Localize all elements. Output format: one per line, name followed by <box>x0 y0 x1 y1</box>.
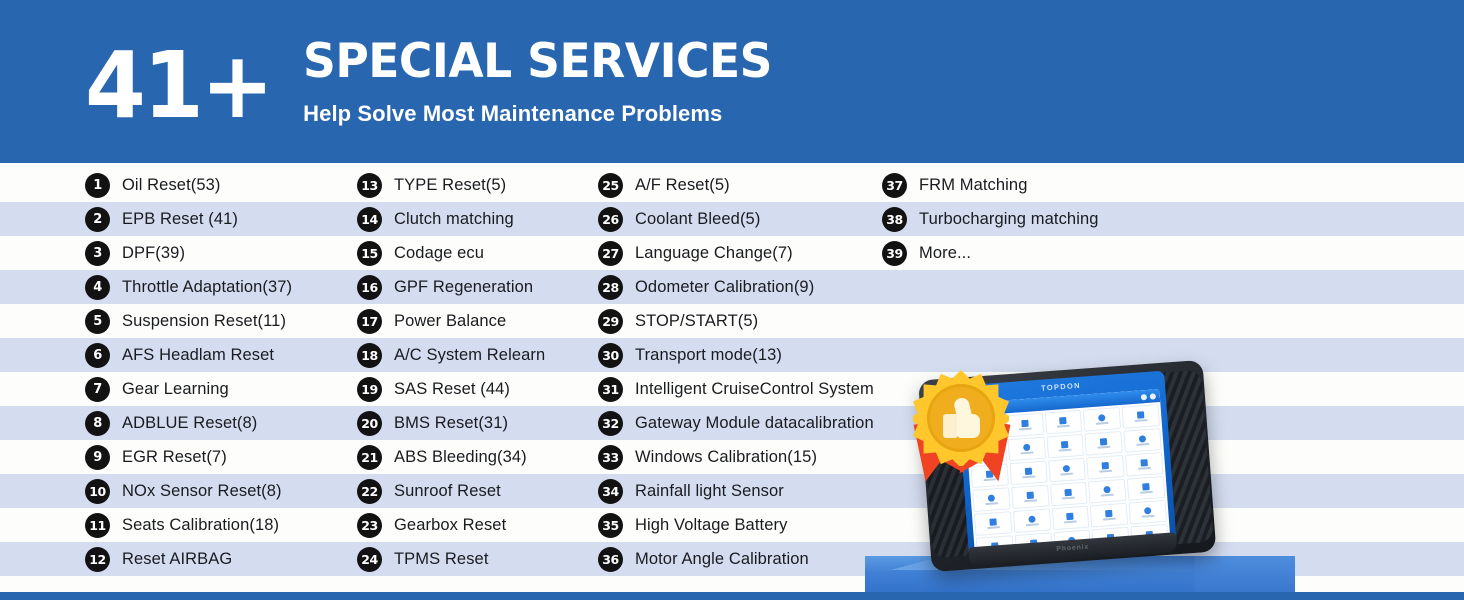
app-tile-caption <box>1026 523 1039 526</box>
list-item-number-badge: 14 <box>357 207 382 232</box>
list-item-label: EPB Reset (41) <box>122 210 238 229</box>
list-item-number-badge: 33 <box>598 445 623 470</box>
app-tile-caption <box>1024 499 1037 502</box>
app-tile <box>1127 476 1165 501</box>
app-tile-caption <box>985 502 998 505</box>
app-tile <box>1044 410 1082 435</box>
list-item-label: Suspension Reset(11) <box>122 312 286 331</box>
award-badge <box>905 368 1017 486</box>
app-tile-icon <box>1139 435 1146 442</box>
special-services-banner: 41+ SPECIAL SERVICES Help Solve Most Mai… <box>0 0 1464 600</box>
list-item-label: Odometer Calibration(9) <box>635 278 814 297</box>
app-tile <box>1083 407 1121 432</box>
thumb-palm <box>943 414 958 438</box>
app-tile-caption <box>1101 494 1114 497</box>
service-list-item[interactable]: 23Gearbox Reset <box>357 508 506 542</box>
list-item-number-badge: 10 <box>85 479 110 504</box>
app-tile-caption <box>1098 446 1111 449</box>
user-icon <box>1150 393 1156 399</box>
list-item-number-badge: 20 <box>357 411 382 436</box>
service-list-item[interactable]: 15Codage ecu <box>357 236 484 270</box>
app-tile <box>1087 455 1125 480</box>
thumbs-up-icon <box>943 398 981 438</box>
list-item-label: DPF(39) <box>122 244 185 263</box>
app-tile <box>1122 404 1160 429</box>
service-list-item[interactable]: 33Windows Calibration(15) <box>598 440 817 474</box>
list-item-number-badge: 27 <box>598 241 623 266</box>
list-item-label: Throttle Adaptation(37) <box>122 278 292 297</box>
service-list-item[interactable]: 6AFS Headlam Reset <box>85 338 274 372</box>
service-list-item[interactable]: 21ABS Bleeding(34) <box>357 440 527 474</box>
list-item-number-badge: 18 <box>357 343 382 368</box>
app-tile-caption <box>1103 518 1116 521</box>
list-item-number-badge: 23 <box>357 513 382 538</box>
settings-icon <box>1141 394 1147 400</box>
app-tile <box>1013 508 1051 533</box>
list-item-number-badge: 13 <box>357 173 382 198</box>
list-item-number-badge: 5 <box>85 309 110 334</box>
service-list-item[interactable]: 18A/C System Relearn <box>357 338 545 372</box>
service-list-item[interactable]: 26Coolant Bleed(5) <box>598 202 760 236</box>
list-item-number-badge: 31 <box>598 377 623 402</box>
list-item-number-badge: 38 <box>882 207 907 232</box>
list-item-label: TPMS Reset <box>394 550 489 569</box>
list-item-number-badge: 28 <box>598 275 623 300</box>
service-list-item[interactable]: 22Sunroof Reset <box>357 474 501 508</box>
app-tile-icon <box>1023 444 1030 451</box>
app-tile <box>1129 500 1167 525</box>
service-list-item[interactable]: 10NOx Sensor Reset(8) <box>85 474 282 508</box>
service-list-item[interactable]: 31Intelligent CruiseControl System <box>598 372 874 406</box>
service-list-item[interactable]: 13TYPE Reset(5) <box>357 168 506 202</box>
app-tile-caption <box>1138 467 1151 470</box>
service-list-item[interactable]: 37FRM Matching <box>882 168 1027 202</box>
app-tile-icon <box>1100 438 1107 445</box>
list-item-number-badge: 15 <box>357 241 382 266</box>
app-tile-caption <box>1099 470 1112 473</box>
app-tile-icon <box>1067 513 1074 520</box>
app-tile-caption <box>1059 449 1072 452</box>
service-list-item[interactable]: 30Transport mode(13) <box>598 338 782 372</box>
app-tile-caption <box>1062 496 1075 499</box>
list-item-label: Windows Calibration(15) <box>635 448 817 467</box>
service-list-item[interactable]: 32Gateway Module datacalibration <box>598 406 874 440</box>
list-item-label: Sunroof Reset <box>394 482 501 501</box>
banner-header: 41+ SPECIAL SERVICES Help Solve Most Mai… <box>0 0 1464 163</box>
app-tile-icon <box>1142 483 1149 490</box>
list-item-number-badge: 35 <box>598 513 623 538</box>
service-list-item[interactable]: 17Power Balance <box>357 304 506 338</box>
list-item-label: Gear Learning <box>122 380 229 399</box>
list-item-label: Rainfall light Sensor <box>635 482 784 501</box>
list-item-number-badge: 12 <box>85 547 110 572</box>
app-tile <box>1046 434 1084 459</box>
list-item-number-badge: 19 <box>357 377 382 402</box>
app-tile-caption <box>1057 425 1070 428</box>
app-tile-icon <box>1144 507 1151 514</box>
app-tile-icon <box>1021 420 1028 427</box>
app-tile-caption <box>1136 443 1149 446</box>
app-tile <box>974 511 1012 536</box>
header-text-block: SPECIAL SERVICES Help Solve Most Mainten… <box>303 28 787 127</box>
list-item-label: A/C System Relearn <box>394 346 545 365</box>
list-item-label: Power Balance <box>394 312 506 331</box>
app-tile <box>1051 506 1089 531</box>
service-list-item[interactable]: 5Suspension Reset(11) <box>85 304 286 338</box>
app-tile-icon <box>1098 414 1105 421</box>
list-item-label: Reset AIRBAG <box>122 550 232 569</box>
app-tile-icon <box>1060 417 1067 424</box>
service-list-item[interactable]: 12Reset AIRBAG <box>85 542 232 576</box>
list-item-label: Gearbox Reset <box>394 516 506 535</box>
list-item-label: Gateway Module datacalibration <box>635 414 874 433</box>
app-tile-icon <box>1137 411 1144 418</box>
list-item-number-badge: 26 <box>598 207 623 232</box>
app-tile-icon <box>1024 468 1031 475</box>
list-item-label: ABS Bleeding(34) <box>394 448 527 467</box>
service-list-item[interactable]: 39More... <box>882 236 971 270</box>
app-tile-icon <box>1104 486 1111 493</box>
service-list-item[interactable]: 28Odometer Calibration(9) <box>598 270 814 304</box>
list-item-label: SAS Reset (44) <box>394 380 510 399</box>
app-tile-caption <box>1135 419 1148 422</box>
list-item-number-badge: 4 <box>85 275 110 300</box>
service-list-item[interactable]: 1Oil Reset(53) <box>85 168 221 202</box>
app-tile-caption <box>1019 428 1032 431</box>
app-tile <box>972 487 1010 512</box>
app-tile-caption <box>1020 451 1033 454</box>
app-tile <box>1085 431 1123 456</box>
list-item-label: Language Change(7) <box>635 244 793 263</box>
service-list-item[interactable]: 25A/F Reset(5) <box>598 168 730 202</box>
service-list-item[interactable]: 36Motor Angle Calibration <box>598 542 809 576</box>
list-item-label: EGR Reset(7) <box>122 448 227 467</box>
list-item-number-badge: 11 <box>85 513 110 538</box>
list-item-label: ADBLUE Reset(8) <box>122 414 257 433</box>
list-item-number-badge: 37 <box>882 173 907 198</box>
app-tile-icon <box>989 518 996 525</box>
app-tile <box>1050 482 1088 507</box>
list-item-label: Clutch matching <box>394 210 514 229</box>
list-item-number-badge: 24 <box>357 547 382 572</box>
app-tile-caption <box>1096 422 1109 425</box>
list-item-number-badge: 34 <box>598 479 623 504</box>
service-list-item[interactable]: 35High Voltage Battery <box>598 508 787 542</box>
list-item-number-badge: 8 <box>85 411 110 436</box>
service-list-item[interactable]: 29 STOP/START(5) <box>598 304 758 338</box>
list-item-label: Intelligent CruiseControl System <box>635 380 874 399</box>
service-list-item[interactable]: 11Seats Calibration(18) <box>85 508 279 542</box>
service-list-item[interactable]: 9EGR Reset(7) <box>85 440 227 474</box>
app-tile <box>1088 479 1126 504</box>
list-item-label: More... <box>919 244 971 263</box>
service-list-item[interactable]: 7Gear Learning <box>85 372 229 406</box>
list-item-number-badge: 2 <box>85 207 110 232</box>
app-tile <box>1048 458 1086 483</box>
service-list-item[interactable]: 34Rainfall light Sensor <box>598 474 784 508</box>
app-tile-caption <box>1064 520 1077 523</box>
list-item-number-badge: 1 <box>85 173 110 198</box>
list-item-label: Seats Calibration(18) <box>122 516 279 535</box>
service-list-item[interactable]: 27Language Change(7) <box>598 236 793 270</box>
service-list-item[interactable]: 8ADBLUE Reset(8) <box>85 406 257 440</box>
service-list-item[interactable]: 4Throttle Adaptation(37) <box>85 270 292 304</box>
app-tile-icon <box>1105 510 1112 517</box>
list-item-label: Oil Reset(53) <box>122 176 221 195</box>
app-tile-caption <box>1061 473 1074 476</box>
list-item-number-badge: 21 <box>357 445 382 470</box>
list-item-number-badge: 22 <box>357 479 382 504</box>
app-tile-icon <box>1028 516 1035 523</box>
app-tile-caption <box>1140 491 1153 494</box>
service-list-item[interactable]: 38Turbocharging matching <box>882 202 1099 236</box>
list-item-label: BMS Reset(31) <box>394 414 508 433</box>
service-list-item[interactable]: 16GPF Regeneration <box>357 270 533 304</box>
page-title: SPECIAL SERVICES <box>303 38 772 85</box>
app-tile-icon <box>1065 489 1072 496</box>
list-item-label: A/F Reset(5) <box>635 176 730 195</box>
app-tile-caption <box>987 526 1000 529</box>
service-list-item[interactable]: 19SAS Reset (44) <box>357 372 510 406</box>
app-tile-icon <box>1026 492 1033 499</box>
list-item-number-badge: 9 <box>85 445 110 470</box>
list-item-number-badge: 7 <box>85 377 110 402</box>
list-item-label: STOP/START(5) <box>635 312 758 331</box>
list-item-label: FRM Matching <box>919 176 1027 195</box>
list-item-number-badge: 30 <box>598 343 623 368</box>
app-tile-icon <box>1102 462 1109 469</box>
list-item-label: Transport mode(13) <box>635 346 782 365</box>
app-tile <box>1125 452 1163 477</box>
list-item-label: Motor Angle Calibration <box>635 550 809 569</box>
app-tile-icon <box>1063 465 1070 472</box>
service-list-item[interactable]: 14Clutch matching <box>357 202 514 236</box>
app-tile-icon <box>1141 459 1148 466</box>
service-list-item[interactable]: 24TPMS Reset <box>357 542 489 576</box>
list-item-number-badge: 32 <box>598 411 623 436</box>
list-item-number-badge: 16 <box>357 275 382 300</box>
list-item-number-badge: 6 <box>85 343 110 368</box>
list-item-number-badge: 17 <box>357 309 382 334</box>
list-item-number-badge: 29 <box>598 309 623 334</box>
app-tile <box>1123 428 1161 453</box>
app-tile <box>1090 503 1128 528</box>
app-tile-icon <box>988 494 995 501</box>
list-item-label: TYPE Reset(5) <box>394 176 506 195</box>
list-item-label: Coolant Bleed(5) <box>635 210 760 229</box>
app-tile-caption <box>1142 515 1155 518</box>
list-item-number-badge: 36 <box>598 547 623 572</box>
service-count: 41+ <box>85 28 292 129</box>
list-item-label: NOx Sensor Reset(8) <box>122 482 282 501</box>
list-item-label: High Voltage Battery <box>635 516 787 535</box>
list-item-label: GPF Regeneration <box>394 278 533 297</box>
service-list-item[interactable]: 20BMS Reset(31) <box>357 406 508 440</box>
list-item-number-badge: 3 <box>85 241 110 266</box>
service-list-item[interactable]: 2EPB Reset (41) <box>85 202 238 236</box>
list-item-number-badge: 25 <box>598 173 623 198</box>
list-item-label: Codage ecu <box>394 244 484 263</box>
footer-bar <box>0 592 1464 600</box>
service-list-item[interactable]: 3DPF(39) <box>85 236 185 270</box>
page-subtitle: Help Solve Most Maintenance Problems <box>303 101 787 127</box>
list-item-label: Turbocharging matching <box>919 210 1099 229</box>
list-item-label: AFS Headlam Reset <box>122 346 274 365</box>
list-item-number-badge: 39 <box>882 241 907 266</box>
app-tile <box>1011 484 1049 509</box>
app-tile-caption <box>1022 475 1035 478</box>
header-content: 41+ SPECIAL SERVICES Help Solve Most Mai… <box>85 28 787 129</box>
app-tile-icon <box>1061 441 1068 448</box>
